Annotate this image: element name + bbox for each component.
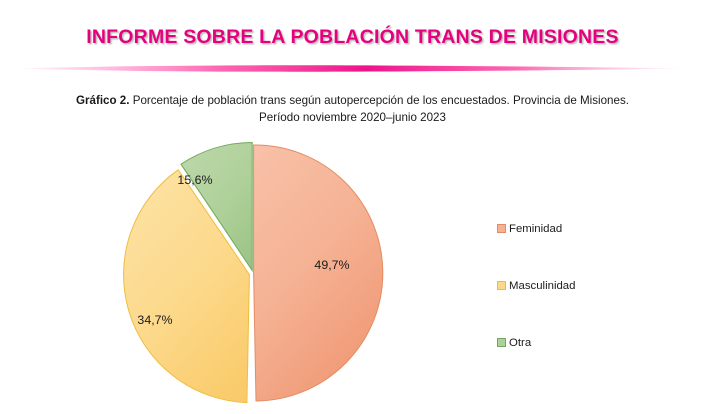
chart-area: 49,7% 34,7% 15,6% Feminidad Masculinidad…	[0, 130, 705, 414]
chart-subtitle-period: Período noviembre 2020–junio 2023	[259, 111, 446, 124]
title-divider	[14, 64, 691, 73]
pie-label-otra: 15,6%	[177, 173, 212, 187]
pie-slice-feminidad	[254, 145, 383, 401]
pie-chart: 49,7% 34,7% 15,6%	[108, 130, 408, 414]
legend-swatch-icon	[497, 224, 506, 233]
legend-item-otra[interactable]: Otra	[497, 336, 657, 349]
page-title: INFORME SOBRE LA POBLACIÓN TRANS DE MISI…	[0, 26, 705, 49]
legend-item-label: Feminidad	[509, 223, 562, 235]
legend-item-label: Masculinidad	[509, 280, 575, 292]
legend-item-masculinidad[interactable]: Masculinidad	[497, 279, 657, 292]
legend-swatch-icon	[497, 338, 506, 347]
chart-subtitle-rest: Porcentaje de población trans según auto…	[129, 94, 629, 107]
report-header: INFORME SOBRE LA POBLACIÓN TRANS DE MISI…	[0, 0, 705, 78]
legend-swatch-icon	[497, 281, 506, 290]
pie-label-masculinidad: 34,7%	[137, 313, 172, 327]
chart-subtitle: Gráfico 2. Porcentaje de población trans…	[22, 93, 683, 126]
chart-legend: Feminidad Masculinidad Otra	[497, 222, 657, 393]
pie-label-feminidad: 49,7%	[314, 258, 349, 272]
legend-item-label: Otra	[509, 337, 531, 349]
legend-item-feminidad[interactable]: Feminidad	[497, 222, 657, 235]
chart-subtitle-lead: Gráfico 2.	[76, 94, 129, 107]
